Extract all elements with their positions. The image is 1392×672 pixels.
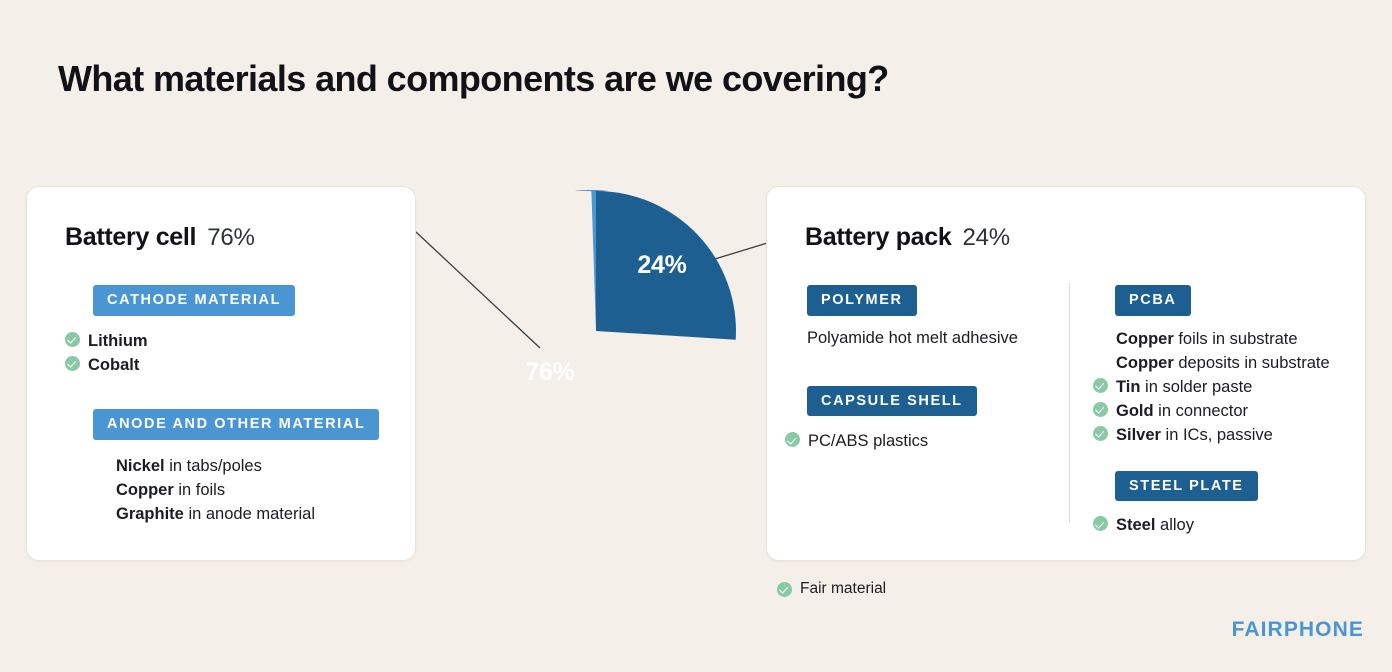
material-item: Lithium xyxy=(65,329,295,353)
pcba-section: PCBA Copper foils in substrateCopper dep… xyxy=(1115,285,1365,447)
material-item: Graphite in anode material xyxy=(93,502,379,526)
battery-pack-card: Battery pack 24% POLYMER Polyamide hot m… xyxy=(766,186,1366,561)
battery-pack-column-right: PCBA Copper foils in substrateCopper dep… xyxy=(1115,285,1365,537)
material-item: Nickel in tabs/poles xyxy=(93,454,379,478)
fair-material-check-icon xyxy=(777,582,792,597)
material-item-label: Gold in connector xyxy=(1116,399,1248,423)
battery-cell-percent: 76% xyxy=(207,224,254,252)
battery-pack-title: Battery pack xyxy=(805,223,951,252)
battery-pack-percent: 24% xyxy=(962,224,1009,252)
material-item-label: Copper in foils xyxy=(116,478,225,502)
battery-cell-card: Battery cell 76% CATHODE MATERIAL Lithiu… xyxy=(26,186,416,561)
bullet-spacer xyxy=(93,481,109,497)
material-item: Steel alloy xyxy=(1093,513,1365,537)
check-icon xyxy=(1093,378,1108,393)
battery-pack-column-left: POLYMER Polyamide hot melt adhesive CAPS… xyxy=(807,285,1097,453)
check-icon xyxy=(1093,402,1108,417)
material-item-label: Graphite in anode material xyxy=(116,502,315,526)
battery-cell-heading: Battery cell 76% xyxy=(65,223,255,252)
bullet-spacer xyxy=(1093,330,1109,346)
check-icon xyxy=(785,432,800,447)
capsule-shell-section: CAPSULE SHELL PC/ABS plastics xyxy=(807,386,1097,454)
capsule-shell-badge: CAPSULE SHELL xyxy=(807,386,977,417)
material-item-label: Silver in ICs, passive xyxy=(1116,423,1273,447)
cathode-material-list: LithiumCobalt xyxy=(65,329,295,377)
material-item: Cobalt xyxy=(65,353,295,377)
battery-cell-title: Battery cell xyxy=(65,223,196,252)
steel-plate-section: STEEL PLATE Steel alloy xyxy=(1115,471,1365,538)
bullet-spacer xyxy=(1093,354,1109,370)
anode-material-section: ANODE AND OTHER MATERIAL Nickel in tabs/… xyxy=(93,409,379,526)
anode-material-list: Nickel in tabs/polesCopper in foilsGraph… xyxy=(93,454,379,526)
material-item-label: PC/ABS plastics xyxy=(808,429,928,453)
material-item: Tin in solder paste xyxy=(1093,375,1365,399)
material-item-label: Nickel in tabs/poles xyxy=(116,454,262,478)
material-item-label: Steel alloy xyxy=(1116,513,1194,537)
material-item: Silver in ICs, passive xyxy=(1093,423,1365,447)
battery-pack-heading: Battery pack 24% xyxy=(805,223,1010,252)
pcba-list: Copper foils in substrateCopper deposits… xyxy=(1093,327,1365,447)
fairphone-logo: FAIRPHONE xyxy=(1232,618,1364,642)
fair-material-check-icon xyxy=(65,332,81,348)
check-icon xyxy=(65,356,80,371)
legend-label: Fair material xyxy=(800,580,886,598)
check-icon xyxy=(65,332,80,347)
legend-fair-material: Fair material xyxy=(777,580,886,598)
polymer-badge: POLYMER xyxy=(807,285,917,316)
material-item: Copper in foils xyxy=(93,478,379,502)
fair-material-check-icon xyxy=(1093,426,1109,442)
fair-material-check-icon xyxy=(1093,378,1109,394)
polymer-section: POLYMER Polyamide hot melt adhesive xyxy=(807,285,1097,348)
material-item: Copper foils in substrate xyxy=(1093,327,1365,351)
fair-material-check-icon xyxy=(65,356,81,372)
material-item: PC/ABS plastics xyxy=(785,429,1097,453)
fair-material-check-icon xyxy=(1093,402,1109,418)
polymer-description: Polyamide hot melt adhesive xyxy=(807,329,1097,348)
cathode-material-badge: CATHODE MATERIAL xyxy=(93,285,295,316)
material-item: Copper deposits in substrate xyxy=(1093,351,1365,375)
pie-label-battery-pack: 24% xyxy=(637,251,686,279)
capsule-shell-list: PC/ABS plastics xyxy=(785,429,1097,453)
pie-chart: 24% 76% xyxy=(455,190,737,472)
steel-plate-list: Steel alloy xyxy=(1093,513,1365,537)
material-item-label: Copper foils in substrate xyxy=(1116,327,1298,351)
pie-label-battery-cell: 76% xyxy=(525,358,574,386)
anode-material-badge: ANODE AND OTHER MATERIAL xyxy=(93,409,379,440)
bullet-spacer xyxy=(93,457,109,473)
material-item-label: Copper deposits in substrate xyxy=(1116,351,1330,375)
material-item-label: Cobalt xyxy=(88,353,139,377)
fair-material-check-icon xyxy=(1093,516,1109,532)
pcba-badge: PCBA xyxy=(1115,285,1191,316)
cathode-material-section: CATHODE MATERIAL LithiumCobalt xyxy=(93,285,295,377)
material-item-label: Tin in solder paste xyxy=(1116,375,1252,399)
material-item-label: Lithium xyxy=(88,329,148,353)
check-icon xyxy=(1093,516,1108,531)
bullet-spacer xyxy=(93,505,109,521)
steel-plate-badge: STEEL PLATE xyxy=(1115,471,1258,502)
page-title: What materials and components are we cov… xyxy=(58,58,889,100)
check-icon xyxy=(1093,426,1108,441)
fair-material-check-icon xyxy=(785,432,801,448)
material-item: Gold in connector xyxy=(1093,399,1365,423)
